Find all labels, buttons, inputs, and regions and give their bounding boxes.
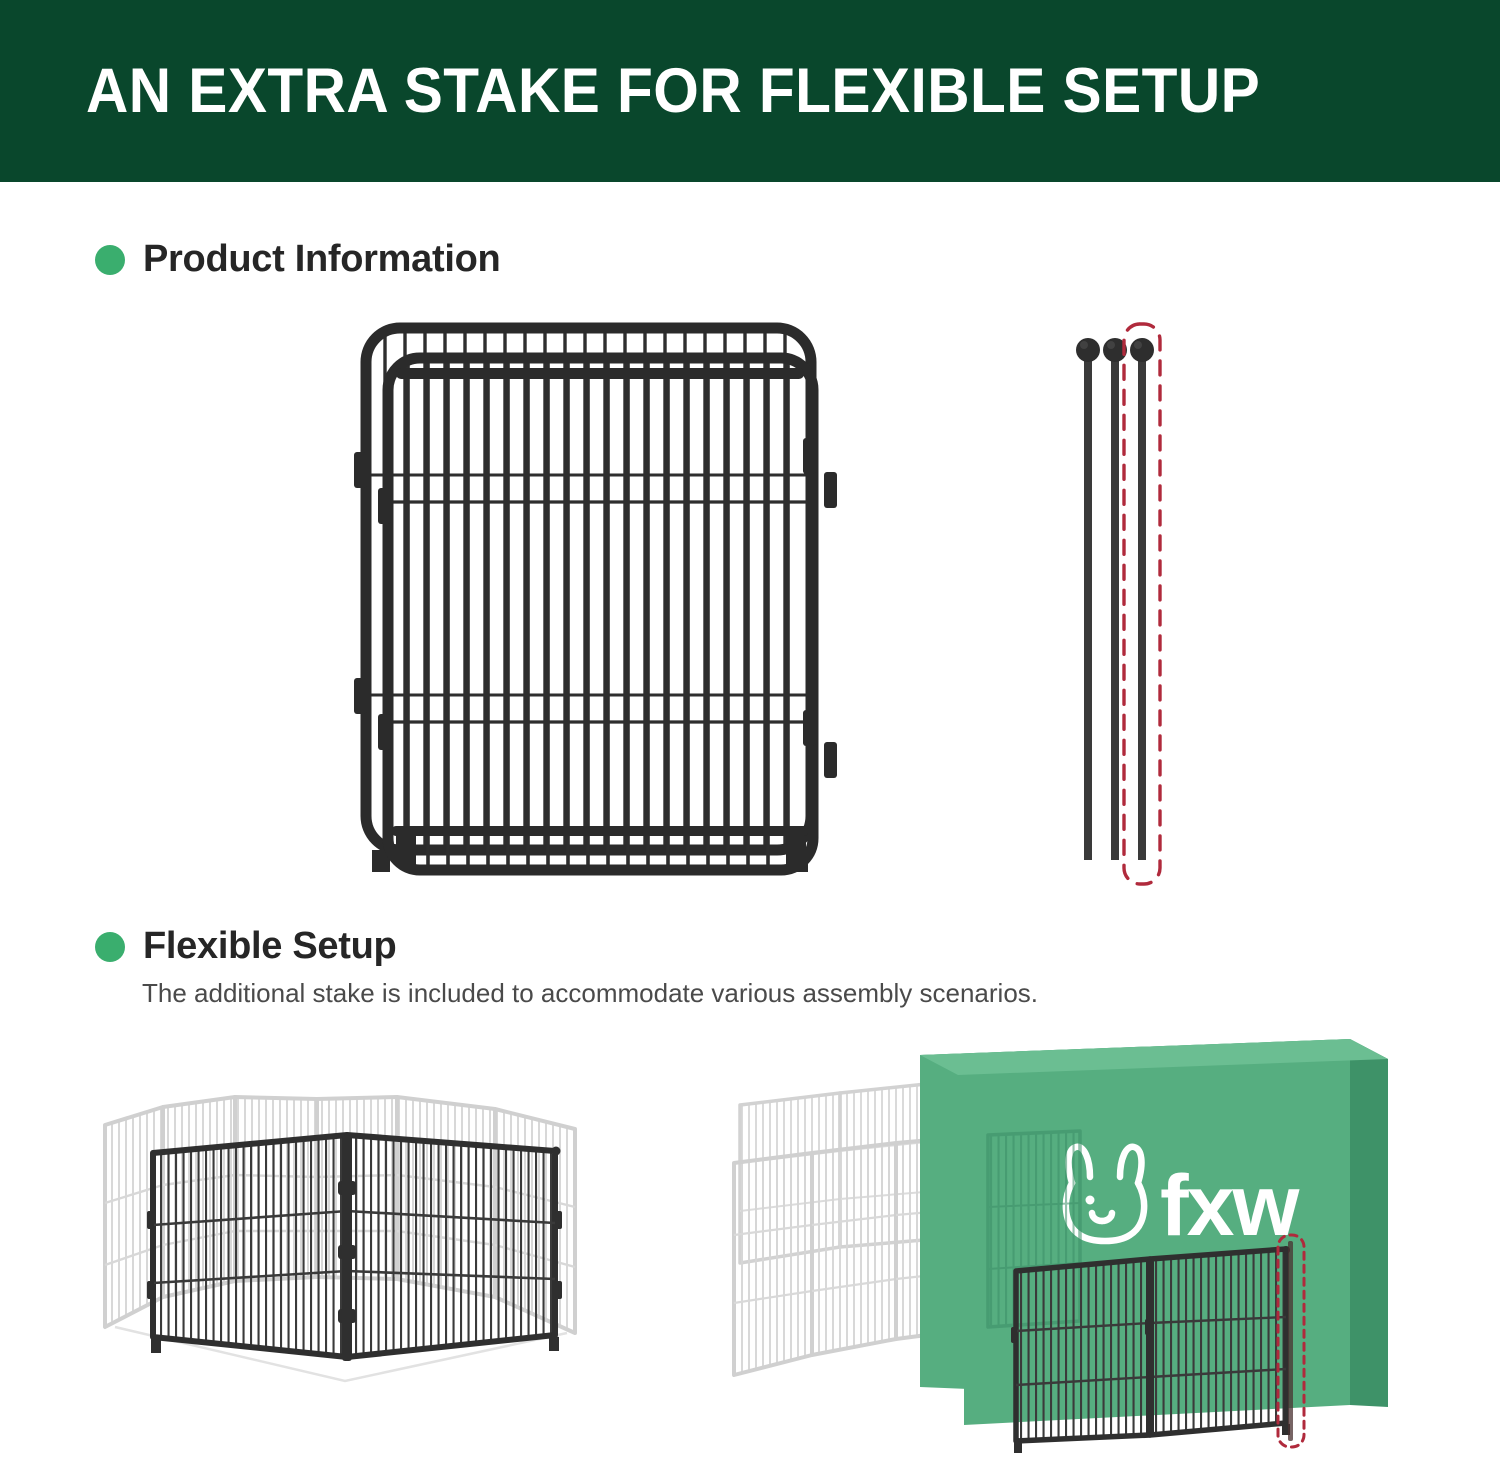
playpen-svg <box>55 1085 675 1415</box>
header-banner: AN EXTRA STAKE FOR FLEXIBLE SETUP <box>0 0 1500 182</box>
ghost-panel-front <box>812 1143 896 1355</box>
solid-panel-b <box>1145 1246 1290 1435</box>
banner-title: AN EXTRA STAKE FOR FLEXIBLE SETUP <box>86 60 1260 123</box>
panel-foot-right <box>786 836 806 866</box>
bullet-icon <box>95 932 125 962</box>
solid-panel-a <box>1011 1259 1150 1453</box>
playpen-illustration <box>55 1085 675 1415</box>
wall-side-face <box>1350 1039 1388 1407</box>
front-panel <box>388 358 813 870</box>
bullet-icon <box>95 245 125 275</box>
fence-panel-illustration <box>330 310 850 880</box>
stake-1 <box>1076 338 1100 860</box>
fence-panel-svg <box>330 310 850 880</box>
stakes-svg <box>1040 310 1240 890</box>
section-title: Product Information <box>143 238 500 281</box>
section-heading-flexible-setup: Flexible Setup <box>95 925 396 968</box>
section-heading-product-information: Product Information <box>95 238 500 281</box>
solid-panel-left <box>147 1135 347 1357</box>
stake-3 <box>1130 338 1154 860</box>
wall-scene-svg: fxw <box>720 1035 1400 1455</box>
wall-scene-illustration: fxw <box>720 1035 1400 1455</box>
solid-panels <box>147 1135 562 1361</box>
section-description: The additional stake is included to acco… <box>142 978 1038 1009</box>
ghost-panel-front <box>734 1153 812 1375</box>
solid-panel-right <box>347 1135 562 1357</box>
solid-panels-wall <box>1011 1246 1290 1453</box>
stakes-illustration <box>1040 310 1240 890</box>
panel-foot-left <box>396 836 416 866</box>
panel-hinge <box>1146 1259 1154 1437</box>
section-title: Flexible Setup <box>143 925 396 968</box>
